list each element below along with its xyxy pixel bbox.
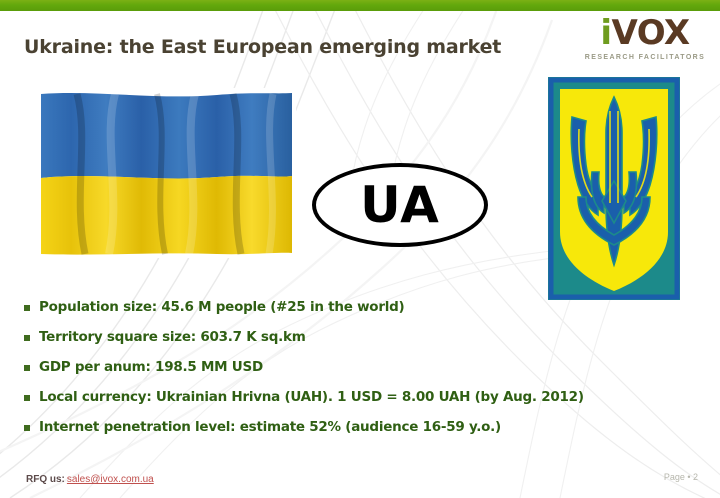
ua-badge-label: UA: [312, 163, 488, 247]
logo-letter-i: i: [600, 13, 611, 53]
rfq-label: RFQ us:: [26, 474, 65, 485]
bullet-label: GDP per anum: 198.5 MM USD: [39, 358, 263, 377]
rfq-email-link[interactable]: sales@ivox.com.ua: [67, 474, 154, 485]
list-item: Internet penetration level: estimate 52%…: [24, 418, 664, 437]
bullet-label: Internet penetration level: estimate 52%…: [39, 418, 501, 437]
ukraine-flag-image: [37, 88, 296, 258]
bullet-square-icon: [24, 425, 30, 431]
bullet-square-icon: [24, 365, 30, 371]
logo-wordmark: iVOX: [582, 16, 708, 50]
ivox-logo: iVOX RESEARCH FACILITATORS: [582, 16, 708, 61]
logo-tagline: RESEARCH FACILITATORS: [582, 54, 708, 61]
bullet-square-icon: [24, 335, 30, 341]
footer-contact: RFQ us:sales@ivox.com.ua: [26, 474, 154, 485]
bullet-square-icon: [24, 305, 30, 311]
bullet-label: Local currency: Ukrainian Hrivna (UAH). …: [39, 388, 584, 407]
bullet-square-icon: [24, 395, 30, 401]
list-item: Population size: 45.6 M people (#25 in t…: [24, 298, 664, 317]
ua-country-code-badge: UA: [312, 163, 488, 247]
bullet-label: Population size: 45.6 M people (#25 in t…: [39, 298, 404, 317]
list-item: Territory square size: 603.7 K sq.km: [24, 328, 664, 347]
ukraine-coat-of-arms-image: [548, 77, 680, 300]
bullet-list: Population size: 45.6 M people (#25 in t…: [24, 298, 664, 448]
page-title: Ukraine: the East European emerging mark…: [24, 36, 501, 58]
top-accent-bar: [0, 0, 720, 11]
bullet-label: Territory square size: 603.7 K sq.km: [39, 328, 306, 347]
list-item: Local currency: Ukrainian Hrivna (UAH). …: [24, 388, 664, 407]
list-item: GDP per anum: 198.5 MM USD: [24, 358, 664, 377]
slide-canvas: iVOX RESEARCH FACILITATORS Ukraine: the …: [0, 0, 720, 498]
page-number: Page • 2: [664, 472, 698, 482]
logo-letters-vox: VOX: [612, 13, 690, 53]
